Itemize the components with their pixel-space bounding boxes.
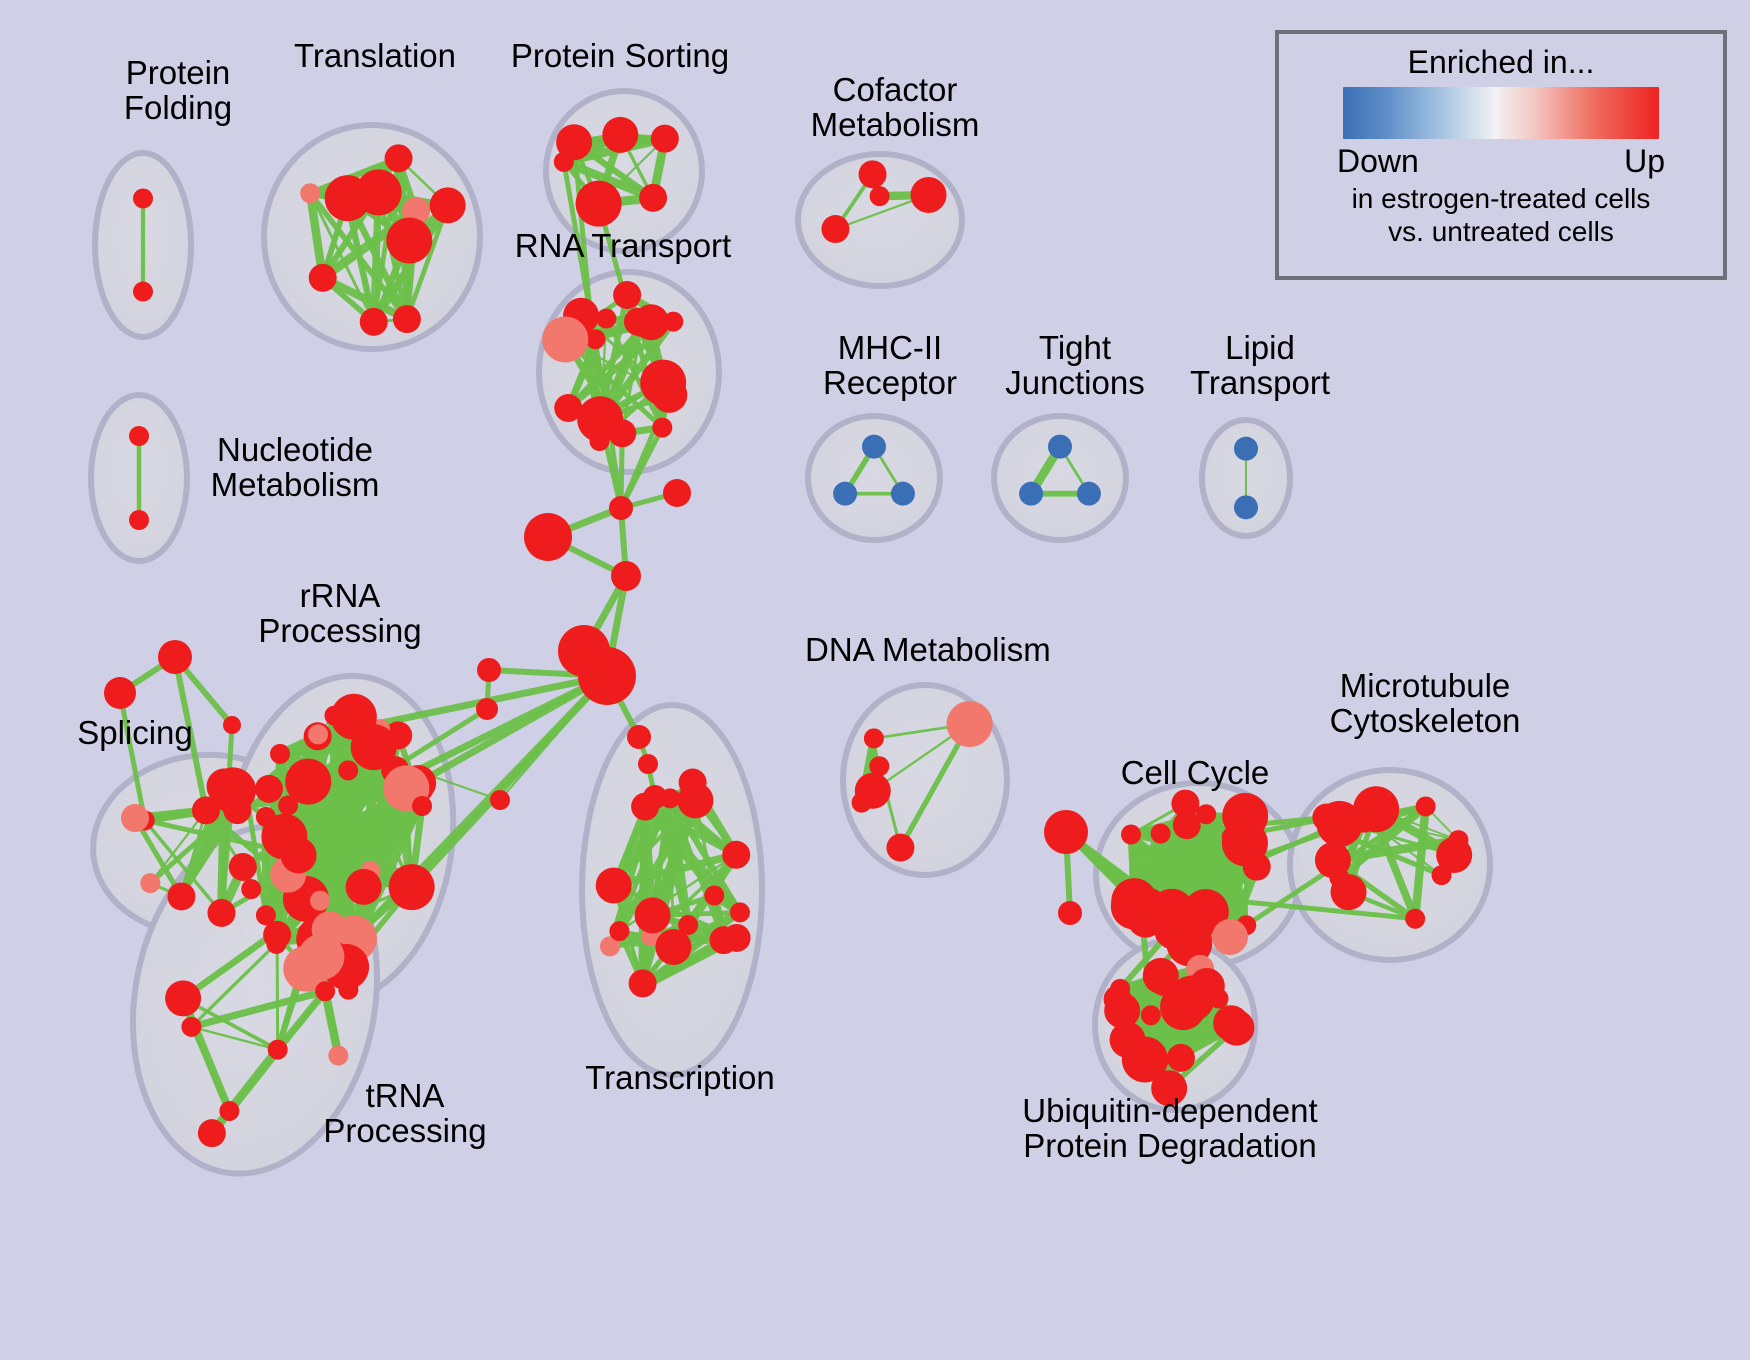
gene-set-node-bridge xyxy=(609,496,633,520)
gene-set-node-transcription xyxy=(635,897,671,933)
gene-set-node-protein-sorting xyxy=(556,124,592,160)
gene-set-node-trna-processing xyxy=(268,1040,288,1060)
gene-set-node-tight-junctions xyxy=(1077,482,1101,506)
gene-set-node-mhc-ii-receptor xyxy=(833,482,857,506)
gene-set-node-rna-transport xyxy=(608,419,636,447)
gene-set-node-protein-sorting xyxy=(639,184,667,212)
gene-set-node-cell-cycle xyxy=(1111,883,1157,929)
gene-set-node-cell-cycle xyxy=(1243,853,1271,881)
cluster-label-cell-cycle: Cell Cycle xyxy=(1105,755,1285,790)
gene-set-node-protein-sorting xyxy=(602,117,638,153)
gene-set-node-mhc-ii-receptor xyxy=(891,482,915,506)
gene-set-node-rna-transport xyxy=(589,431,609,451)
gene-set-node-trna-processing xyxy=(310,891,330,911)
gene-set-node-cell-cycle xyxy=(1196,804,1216,824)
gene-set-node-trna-processing xyxy=(328,1046,348,1066)
cluster-label-protein-sorting: Protein Sorting xyxy=(505,38,735,73)
gene-set-node-trna-processing xyxy=(165,980,201,1016)
gene-set-node-bridge xyxy=(524,513,572,561)
gene-set-node-translation xyxy=(393,305,421,333)
gene-set-node-microtubule-cytoskeleton xyxy=(1448,830,1468,850)
gene-set-node-bridge xyxy=(627,725,651,749)
gene-set-node-bridge xyxy=(104,677,136,709)
gene-set-node-rrna-processing xyxy=(338,760,358,780)
gene-set-node-tight-junctions xyxy=(1019,482,1043,506)
gene-set-node-rrna-processing xyxy=(389,864,435,910)
gene-set-node-rrna-processing xyxy=(324,706,344,726)
gene-set-node-microtubule-cytoskeleton xyxy=(1432,865,1452,885)
gene-set-node-microtubule-cytoskeleton xyxy=(1357,793,1385,821)
gene-set-node-lipid-transport xyxy=(1234,495,1258,519)
gene-set-node-translation xyxy=(325,175,371,221)
gene-set-node-ubiquitin-protein-degradation xyxy=(1104,985,1132,1013)
gene-set-node-bridge xyxy=(638,754,658,774)
gene-set-node-ubiquitin-protein-degradation xyxy=(1167,1044,1195,1072)
gene-set-node-transcription xyxy=(710,926,738,954)
cluster-label-translation: Translation xyxy=(285,38,465,73)
gene-set-node-transcription xyxy=(596,867,632,903)
gene-set-node-rrna-processing xyxy=(278,795,298,815)
gene-set-node-bridge xyxy=(578,647,636,705)
gene-set-node-dna-metabolism xyxy=(947,701,993,747)
gene-set-node-rna-transport xyxy=(596,309,616,329)
gene-set-node-translation xyxy=(360,308,388,336)
gene-set-node-protein-sorting xyxy=(651,125,679,153)
cluster-label-tight-junctions: Tight Junctions xyxy=(985,330,1165,401)
legend-box: Enriched in... Down Up in estrogen-treat… xyxy=(1275,30,1727,280)
cluster-label-lipid-transport: Lipid Transport xyxy=(1170,330,1350,401)
gene-set-node-rna-transport xyxy=(640,360,686,406)
legend-endpoints: Down Up xyxy=(1337,143,1665,180)
gene-set-node-nucleotide-metabolism xyxy=(129,426,149,446)
gene-set-node-translation xyxy=(386,217,432,263)
gene-set-node-translation xyxy=(430,187,466,223)
gene-set-node-ubiquitin-protein-degradation xyxy=(1143,958,1179,994)
gene-set-node-cofactor-metabolism xyxy=(859,160,887,188)
gene-set-node-bridge xyxy=(1058,901,1082,925)
gene-set-node-transcription xyxy=(722,841,750,869)
gene-set-node-cell-cycle xyxy=(1171,790,1199,818)
gene-set-node-bridge xyxy=(490,790,510,810)
gene-set-node-rrna-processing xyxy=(270,744,290,764)
gene-set-node-rrna-processing xyxy=(346,869,382,905)
gene-set-node-trna-processing xyxy=(263,921,291,949)
gene-set-node-dna-metabolism xyxy=(852,793,872,813)
gene-set-node-splicing xyxy=(121,804,149,832)
cluster-label-nucleotide-metabolism: Nucleotide Metabolism xyxy=(200,432,390,503)
gene-set-node-translation xyxy=(300,183,320,203)
gene-set-node-microtubule-cytoskeleton xyxy=(1322,818,1350,846)
gene-set-node-microtubule-cytoskeleton xyxy=(1329,868,1349,888)
gene-set-node-translation xyxy=(309,264,337,292)
gene-set-node-nucleotide-metabolism xyxy=(129,510,149,530)
gene-set-node-protein-folding xyxy=(133,188,153,208)
cluster-label-dna-metabolism: DNA Metabolism xyxy=(805,632,1045,667)
gene-set-node-transcription xyxy=(679,769,707,797)
gene-set-node-bridge xyxy=(643,785,667,809)
legend-title: Enriched in... xyxy=(1301,44,1701,81)
gene-set-node-transcription xyxy=(655,929,691,965)
gene-set-node-trna-processing xyxy=(338,980,358,1000)
cluster-halo-tight-junctions xyxy=(994,416,1126,540)
gene-set-node-splicing xyxy=(167,882,195,910)
gene-set-node-cofactor-metabolism xyxy=(911,177,947,213)
gene-set-node-rna-transport xyxy=(542,317,588,363)
cluster-label-trna-processing: tRNA Processing xyxy=(310,1078,500,1149)
gene-set-node-splicing xyxy=(229,853,257,881)
gene-set-node-cofactor-metabolism xyxy=(870,186,890,206)
gene-set-node-translation xyxy=(385,144,413,172)
gene-set-node-transcription xyxy=(629,969,657,997)
gene-set-node-bridge xyxy=(477,658,501,682)
gene-set-node-rrna-processing xyxy=(412,796,432,816)
legend-down-label: Down xyxy=(1337,143,1419,180)
cluster-label-protein-folding: Protein Folding xyxy=(88,55,268,126)
gene-set-node-mhc-ii-receptor xyxy=(862,435,886,459)
cluster-label-mhc-ii-receptor: MHC-II Receptor xyxy=(800,330,980,401)
cluster-label-rrna-processing: rRNA Processing xyxy=(245,578,435,649)
cluster-label-microtubule-cytoskeleton: Microtubule Cytoskeleton xyxy=(1310,668,1540,739)
cluster-label-rna-transport: RNA Transport xyxy=(508,228,738,263)
gene-set-node-splicing xyxy=(235,775,255,795)
cluster-label-transcription: Transcription xyxy=(570,1060,790,1095)
gene-set-node-rna-transport xyxy=(554,394,582,422)
gene-set-node-cell-cycle xyxy=(1151,824,1171,844)
legend-color-bar xyxy=(1343,87,1659,139)
gene-set-node-bridge xyxy=(611,561,641,591)
gene-set-node-rna-transport xyxy=(624,308,652,336)
gene-set-node-transcription xyxy=(730,902,750,922)
gene-set-node-rna-transport xyxy=(652,418,672,438)
cluster-halo-mhc-ii-receptor xyxy=(808,416,940,540)
gene-set-node-rrna-processing xyxy=(255,775,283,803)
gene-set-node-rrna-processing xyxy=(308,724,328,744)
gene-set-node-splicing xyxy=(207,899,235,927)
gene-set-node-trna-processing xyxy=(315,981,335,1001)
gene-set-node-microtubule-cytoskeleton xyxy=(1416,796,1436,816)
gene-set-node-tight-junctions xyxy=(1048,435,1072,459)
gene-set-node-ubiquitin-protein-degradation xyxy=(1141,1005,1161,1025)
gene-set-node-bridge xyxy=(223,716,241,734)
legend-subtitle-line2: vs. untreated cells xyxy=(1301,215,1701,248)
cluster-label-ubiquitin-protein-degradation: Ubiquitin-dependent Protein Degradation xyxy=(1000,1093,1340,1164)
gene-set-node-trna-processing xyxy=(181,1017,201,1037)
gene-set-node-splicing xyxy=(140,873,160,893)
gene-set-node-transcription xyxy=(609,921,629,941)
cluster-label-splicing: Splicing xyxy=(55,715,215,750)
gene-set-node-splicing xyxy=(241,879,261,899)
gene-set-node-ubiquitin-protein-degradation xyxy=(1218,1010,1254,1046)
gene-set-node-bridge xyxy=(663,479,691,507)
gene-set-node-ubiquitin-protein-degradation xyxy=(1189,968,1225,1004)
gene-set-node-dna-metabolism xyxy=(886,834,914,862)
gene-set-node-rrna-processing xyxy=(281,837,317,873)
gene-set-node-trna-processing xyxy=(198,1119,226,1147)
gene-set-node-rna-transport xyxy=(613,281,641,309)
gene-set-node-bridge xyxy=(476,698,498,720)
legend-subtitle-line1: in estrogen-treated cells xyxy=(1301,182,1701,215)
gene-set-node-protein-folding xyxy=(133,282,153,302)
enrichment-map-figure: Protein FoldingTranslationProtein Sortin… xyxy=(0,0,1750,1360)
gene-set-node-protein-sorting xyxy=(576,181,622,227)
gene-set-node-ubiquitin-protein-degradation xyxy=(1110,1022,1146,1058)
gene-set-node-cell-cycle xyxy=(1121,825,1141,845)
gene-set-node-transcription xyxy=(704,885,724,905)
gene-set-node-bridge xyxy=(1044,810,1088,854)
gene-set-node-lipid-transport xyxy=(1234,437,1258,461)
cluster-label-cofactor-metabolism: Cofactor Metabolism xyxy=(800,72,990,143)
gene-set-node-cofactor-metabolism xyxy=(821,215,849,243)
gene-set-node-bridge xyxy=(158,640,192,674)
gene-set-node-rrna-processing xyxy=(312,911,348,947)
gene-set-node-dna-metabolism xyxy=(869,756,889,776)
gene-set-node-microtubule-cytoskeleton xyxy=(1405,909,1425,929)
gene-set-node-cell-cycle xyxy=(1212,919,1248,955)
legend-up-label: Up xyxy=(1624,143,1665,180)
gene-set-node-rna-transport xyxy=(585,329,605,349)
gene-set-node-trna-processing xyxy=(219,1101,239,1121)
gene-set-node-dna-metabolism xyxy=(864,728,884,748)
gene-set-node-rrna-processing xyxy=(256,807,276,827)
